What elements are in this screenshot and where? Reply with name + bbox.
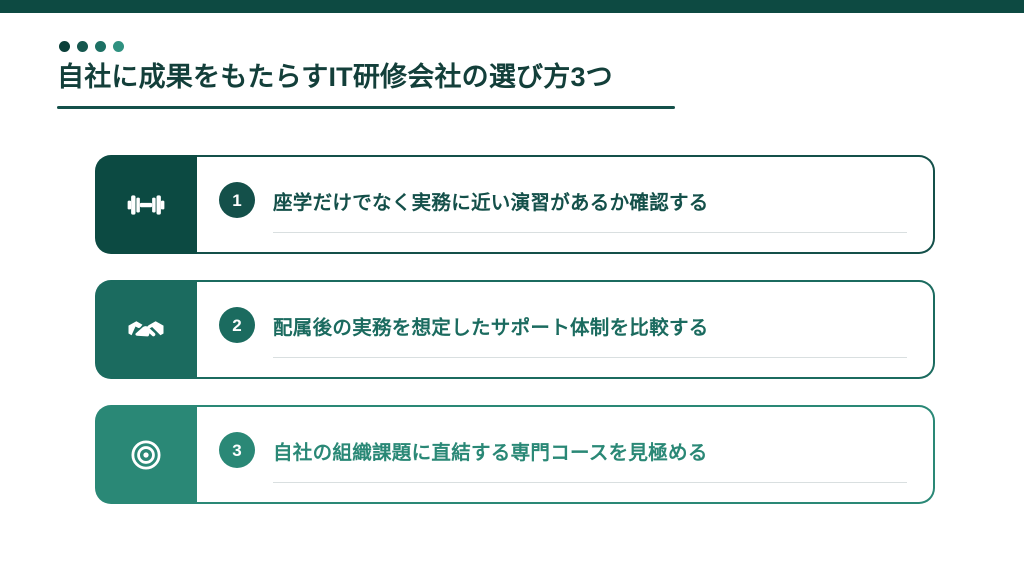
- step-text: 配属後の実務を想定したサポート体制を比較する: [273, 311, 709, 340]
- card-row: 2 配属後の実務を想定したサポート体制を比較する: [219, 307, 907, 343]
- target-icon: [125, 434, 167, 476]
- steps-list: 1 座学だけでなく実務に近い演習があるか確認する 2: [95, 155, 935, 504]
- card-divider: [273, 357, 907, 358]
- step-number-badge: 2: [219, 307, 255, 343]
- dot-2-icon: [77, 41, 88, 52]
- card-divider: [273, 232, 907, 233]
- title-underline: [57, 106, 675, 109]
- card-body: 3 自社の組織課題に直結する専門コースを見極める: [197, 405, 935, 504]
- dumbbell-icon: [125, 184, 167, 226]
- card-icon-panel: [95, 155, 197, 254]
- dot-3-icon: [95, 41, 106, 52]
- dot-1-icon: [59, 41, 70, 52]
- slide-header: 自社に成果をもたらすIT研修会社の選び方3つ: [57, 39, 677, 109]
- step-number-badge: 1: [219, 182, 255, 218]
- step-number-badge: 3: [219, 432, 255, 468]
- dot-4-icon: [113, 41, 124, 52]
- card-icon-panel: [95, 280, 197, 379]
- card-icon-panel: [95, 405, 197, 504]
- card-body: 1 座学だけでなく実務に近い演習があるか確認する: [197, 155, 935, 254]
- step-text: 座学だけでなく実務に近い演習があるか確認する: [273, 186, 709, 215]
- list-item: 3 自社の組織課題に直結する専門コースを見極める: [95, 405, 935, 504]
- decorative-dots: [59, 39, 677, 53]
- list-item: 1 座学だけでなく実務に近い演習があるか確認する: [95, 155, 935, 254]
- list-item: 2 配属後の実務を想定したサポート体制を比較する: [95, 280, 935, 379]
- handshake-icon: [125, 309, 167, 351]
- card-row: 3 自社の組織課題に直結する専門コースを見極める: [219, 432, 907, 468]
- card-body: 2 配属後の実務を想定したサポート体制を比較する: [197, 280, 935, 379]
- card-divider: [273, 482, 907, 483]
- top-accent-bar: [0, 0, 1024, 13]
- slide-body: 自社に成果をもたらすIT研修会社の選び方3つ: [0, 13, 1024, 576]
- card-row: 1 座学だけでなく実務に近い演習があるか確認する: [219, 182, 907, 218]
- step-text: 自社の組織課題に直結する専門コースを見極める: [273, 436, 708, 465]
- page-title: 自社に成果をもたらすIT研修会社の選び方3つ: [57, 61, 677, 95]
